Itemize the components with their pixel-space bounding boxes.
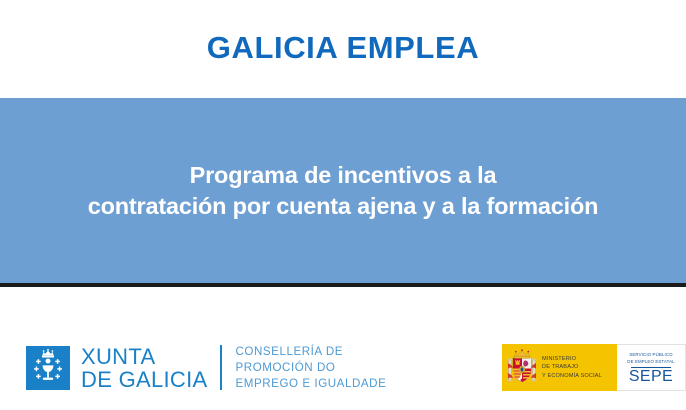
sepe-logo: SERVICIO PÚBLICO DE EMPLEO ESTATAL SEPE <box>617 344 686 391</box>
logo-divider <box>220 345 222 390</box>
conselleria-text: CONSELLERÍA DE PROMOCIÓN DO EMPREGO E IG… <box>235 344 386 392</box>
xunta-wordmark-line-2: DE GALICIA <box>81 368 207 391</box>
sepe-caption: SERVICIO PÚBLICO DE EMPLEO ESTATAL <box>627 352 674 365</box>
ministerio-de-trabajo-logo: MINISTERIO DE TRABAJO Y ECONOMÍA SOCIAL <box>502 344 617 391</box>
program-banner: Programa de incentivos a la contratación… <box>0 98 686 283</box>
conselleria-line-2: PROMOCIÓN DO <box>235 360 386 376</box>
ministerio-line-1: MINISTERIO <box>542 355 602 364</box>
ministerio-line-2: DE TRABAJO <box>542 363 602 372</box>
conselleria-line-1: CONSELLERÍA DE <box>235 344 386 360</box>
ministerio-line-3: Y ECONOMÍA SOCIAL <box>542 372 602 381</box>
ministerio-text: MINISTERIO DE TRABAJO Y ECONOMÍA SOCIAL <box>542 355 602 381</box>
page-title: GALICIA EMPLEA <box>207 32 479 67</box>
footer: XUNTA DE GALICIA CONSELLERÍA DE PROMOCIÓ… <box>0 287 686 410</box>
program-banner-text: Programa de incentivos a la contratación… <box>80 160 607 221</box>
xunta-wordmark-line-1: XUNTA <box>81 345 207 368</box>
sepe-acronym: SEPE <box>629 369 673 385</box>
xunta-de-galicia-logo-group: XUNTA DE GALICIA CONSELLERÍA DE PROMOCIÓ… <box>26 344 386 392</box>
program-banner-line-1: Programa de incentivos a la <box>88 160 599 191</box>
sepe-caption-line-1: SERVICIO PÚBLICO <box>627 352 674 359</box>
spain-coat-of-arms-icon <box>507 349 537 387</box>
header-title-bar: GALICIA EMPLEA <box>0 0 686 98</box>
xunta-coat-of-arms-icon <box>26 346 70 390</box>
sepe-caption-line-2: DE EMPLEO ESTATAL <box>627 359 674 366</box>
program-banner-line-2: contratación por cuenta ajena y a la for… <box>88 191 599 222</box>
conselleria-line-3: EMPREGO E IGUALDADE <box>235 376 386 392</box>
xunta-wordmark: XUNTA DE GALICIA <box>81 345 207 391</box>
government-logo-group: MINISTERIO DE TRABAJO Y ECONOMÍA SOCIAL … <box>502 344 686 391</box>
